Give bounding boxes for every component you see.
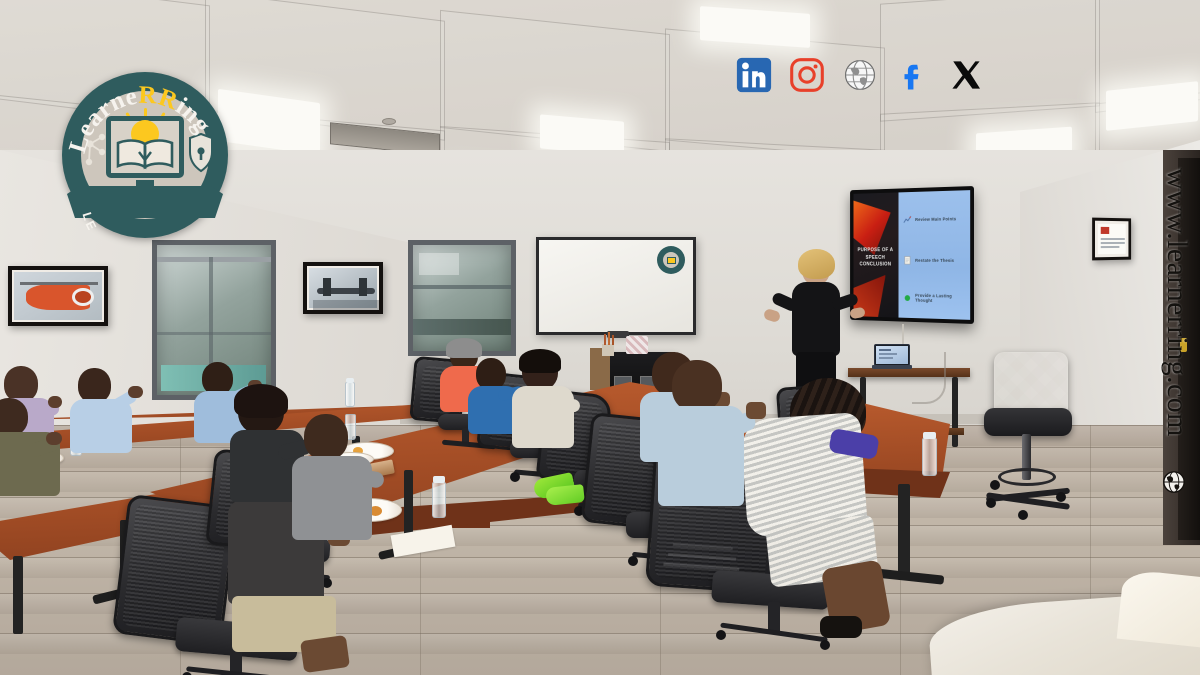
bottle-cap xyxy=(923,432,936,439)
slide-bullet-2-text: Restate the Thesis xyxy=(915,258,954,263)
slide-bullet-3: Provide a Lasting Thought xyxy=(903,290,968,307)
water-bottle xyxy=(922,438,937,476)
pencil-icon xyxy=(604,334,606,345)
document-icon xyxy=(903,255,912,266)
bottle-cap xyxy=(346,378,354,383)
water-bottle xyxy=(345,382,355,407)
svg-text:LearneRRing: LearneRRing xyxy=(64,82,216,156)
logo-tagline-banner: LEARN TO LEAD xyxy=(65,184,225,230)
presenter-hair xyxy=(798,249,835,279)
presentation-screen: PURPOSE OF A SPEECH CONCLUSION Review Ma… xyxy=(850,186,974,324)
tablecloth-fold xyxy=(1117,569,1200,651)
whiteboard-logo-sticker xyxy=(657,246,685,274)
pencil-icon xyxy=(612,335,614,345)
student-hair xyxy=(446,338,482,358)
student-shoe xyxy=(820,616,862,638)
presenter-hand-left xyxy=(763,308,782,323)
framed-photo-helicopter xyxy=(8,266,108,326)
student-hair xyxy=(519,349,561,373)
framed-photo-aircraft xyxy=(303,262,383,314)
laptop xyxy=(872,344,912,370)
globe-icon xyxy=(1162,470,1186,494)
student-leg xyxy=(300,635,350,673)
green-dot-icon xyxy=(903,293,912,304)
slide-bullet-3-text: Provide a Lasting Thought xyxy=(915,293,967,304)
student xyxy=(286,414,390,564)
website-url: www.learnerring.com xyxy=(1160,168,1194,437)
linkedin-icon[interactable] xyxy=(733,54,775,96)
slide-bullet-1: Review Main Points xyxy=(903,211,968,228)
x-twitter-icon[interactable] xyxy=(945,54,987,96)
pen-cup xyxy=(602,344,614,356)
chart-line-icon xyxy=(903,215,912,226)
facebook-icon[interactable] xyxy=(892,54,934,96)
instagram-icon[interactable] xyxy=(786,54,828,96)
student xyxy=(504,352,588,464)
classroom-photo: PURPOSE OF A SPEECH CONCLUSION Review Ma… xyxy=(0,0,1200,675)
brand-logo: LearneRRing LEARN TO LEAD xyxy=(62,72,228,238)
water-bottle xyxy=(432,482,446,518)
student-hair xyxy=(234,384,288,418)
smoke-detector-icon xyxy=(382,118,396,125)
stool-footring xyxy=(998,468,1056,486)
globe-icon[interactable] xyxy=(839,54,881,96)
power-cable xyxy=(912,352,946,404)
framed-certificate xyxy=(1092,218,1131,261)
slide-bullet-2: Restate the Thesis xyxy=(903,252,968,268)
social-icons-bar[interactable] xyxy=(733,54,987,96)
slide-bullet-1-text: Review Main Points xyxy=(915,217,956,223)
desk-leg xyxy=(952,377,958,447)
pencil-icon xyxy=(608,332,610,345)
presenter-torso xyxy=(792,282,840,356)
bottle-cap xyxy=(433,476,445,483)
whiteboard xyxy=(536,237,696,335)
student xyxy=(64,368,154,468)
slide-bullets-panel: Review Main Points Restate the Thesis Pr… xyxy=(899,190,971,320)
table-leg xyxy=(13,556,23,634)
student xyxy=(744,378,904,638)
drafting-stool xyxy=(978,352,1072,530)
student xyxy=(654,360,764,550)
